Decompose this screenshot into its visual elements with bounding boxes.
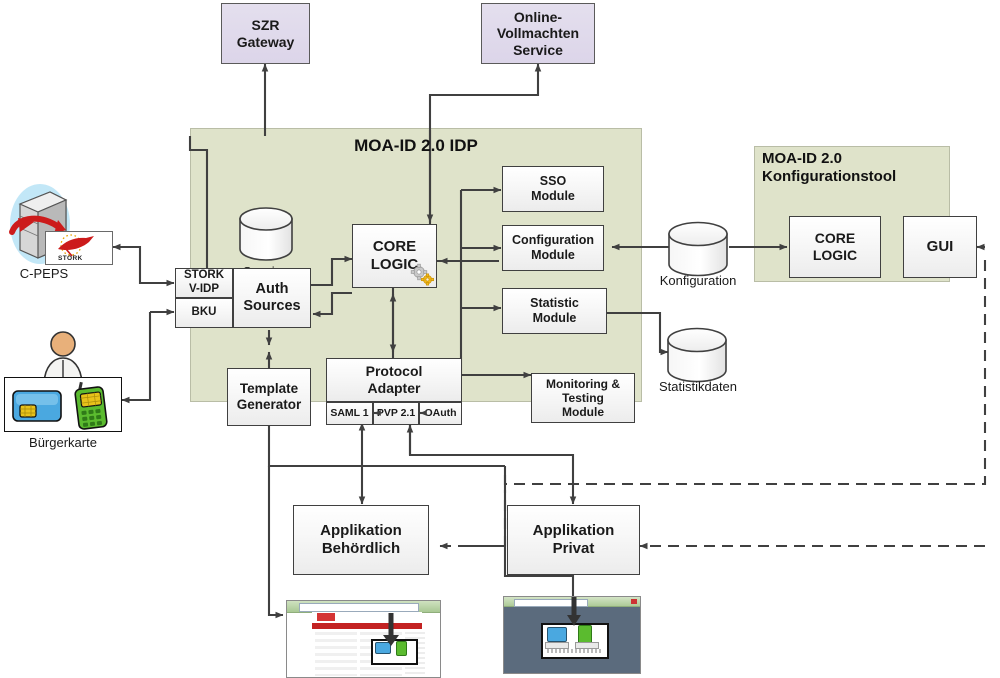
template-generator-box[interactable]: Template Generator <box>227 368 311 426</box>
private-portal-screenshot[interactable] <box>503 596 641 674</box>
konfiguration-db <box>669 223 727 276</box>
configuration-module-line1: Configuration <box>512 233 594 247</box>
private-widget-card-button[interactable] <box>545 642 569 649</box>
screenshot-pointer-arrow <box>379 613 409 647</box>
private-widget-checkbox-row[interactable] <box>547 649 601 653</box>
cpeps-label: C-PEPS <box>6 266 82 281</box>
connector-layer <box>0 0 1000 678</box>
szr-gateway-line1: SZR <box>252 17 280 33</box>
protocol-adapter-box[interactable]: Protocol Adapter <box>326 358 462 402</box>
monitoring-testing-module-box[interactable]: Monitoring & Testing Module <box>531 373 635 423</box>
bku-label: BKU <box>176 306 232 320</box>
monitoring-module-line1: Monitoring & <box>546 377 620 391</box>
citizen-card-icon <box>11 385 65 427</box>
moa-id-idp-title: MOA-ID 2.0 IDP <box>190 136 642 156</box>
core-logic-line1: CORE <box>373 238 416 255</box>
protocol-saml1-box[interactable]: SAML 1 <box>326 402 373 425</box>
protocol-saml1-label: SAML 1 <box>327 407 372 419</box>
konfiguration-db-label: Konfiguration <box>640 273 756 288</box>
stork-vidp-line2: V-IDP <box>189 283 219 295</box>
browser-close-button-private[interactable] <box>631 599 637 604</box>
core-logic-box[interactable]: CORE LOGIC <box>352 224 437 288</box>
auth-sources-box[interactable]: Auth Sources <box>233 268 311 328</box>
private-widget-mobile-button[interactable] <box>575 642 599 649</box>
gui-label: GUI <box>904 238 976 256</box>
sso-module-box[interactable]: SSO Module <box>502 166 604 212</box>
monitoring-module-line3: Module <box>562 405 604 419</box>
applikation-behoerdlich-box[interactable]: Applikation Behördlich <box>293 505 429 575</box>
auth-sources-line1: Auth <box>255 281 288 297</box>
protocol-oauth-box[interactable]: OAuth <box>419 402 462 425</box>
browser-url-field[interactable] <box>299 603 419 612</box>
auth-sources-line2: Sources <box>243 298 300 314</box>
template-generator-line2: Generator <box>237 397 302 412</box>
privat-line2: Privat <box>553 540 595 557</box>
konfigurationstool-title-line1: MOA-ID 2.0 <box>762 150 842 167</box>
konfigtool-core-logic-box[interactable]: CORE LOGIC <box>789 216 881 278</box>
monitoring-module-line2: Testing <box>562 391 604 405</box>
vollmachten-line2: Vollmachten <box>497 25 579 41</box>
applikation-privat-box[interactable]: Applikation Privat <box>507 505 640 575</box>
statistikdaten-db <box>668 329 726 382</box>
configuration-module-box[interactable]: Configuration Module <box>502 225 604 271</box>
stork-vidp-line1: STORK <box>184 269 224 281</box>
vollmachten-line1: Online- <box>514 9 562 25</box>
bku-box[interactable]: BKU <box>175 298 233 328</box>
private-widget-card-icon <box>547 627 567 642</box>
online-vollmachten-service-box[interactable]: Online- Vollmachten Service <box>481 3 595 64</box>
protocol-oauth-label: OAuth <box>420 407 461 419</box>
konfigtool-gui-box[interactable]: GUI <box>903 216 977 278</box>
sso-module-line2: Module <box>531 189 575 203</box>
sso-module-line1: SSO <box>540 174 566 188</box>
cpeps-badge-label: STORK <box>56 255 126 263</box>
konfigurationstool-title-line2: Konfigurationstool <box>762 168 896 185</box>
stork-vidp-box[interactable]: STORK V-IDP <box>175 268 233 298</box>
cpeps-stork-badge[interactable]: STORK <box>45 231 113 265</box>
buergerkarte-box[interactable] <box>4 377 122 432</box>
diagram-canvas: MOA-ID 2.0 IDP MOA-ID 2.0 Konfigurations… <box>0 0 1000 678</box>
gear-icon <box>409 262 435 286</box>
session-information-db <box>240 208 292 260</box>
site-content-column-left <box>315 632 357 676</box>
statistikdaten-db-label: Statistikdaten <box>638 379 758 394</box>
szr-gateway-line2: Gateway <box>237 34 295 50</box>
behoerdlich-line1: Applikation <box>320 522 402 539</box>
privat-line1: Applikation <box>533 522 615 539</box>
konfigtool-core-logic-line2: LOGIC <box>813 247 857 263</box>
statistic-module-line1: Statistic <box>530 296 579 310</box>
template-generator-line1: Template <box>240 381 298 396</box>
vollmachten-line3: Service <box>513 42 563 58</box>
konfigtool-core-logic-line1: CORE <box>815 230 855 246</box>
private-screenshot-pointer-arrow <box>564 597 588 627</box>
statistic-module-box[interactable]: Statistic Module <box>502 288 607 334</box>
buergerkarte-label: Bürgerkarte <box>4 435 122 450</box>
mobile-phone-icon <box>71 380 113 430</box>
public-portal-screenshot[interactable] <box>286 600 441 678</box>
konfigurationstool-title: MOA-ID 2.0 Konfigurationstool <box>762 150 948 186</box>
statistic-module-line2: Module <box>533 311 577 325</box>
protocol-adapter-line1: Protocol <box>366 363 423 379</box>
szr-gateway-box[interactable]: SZR Gateway <box>221 3 310 64</box>
behoerdlich-line2: Behördlich <box>322 540 400 557</box>
site-logo <box>317 613 335 621</box>
protocol-pvp21-box[interactable]: PVP 2.1 <box>373 402 419 425</box>
protocol-adapter-line2: Adapter <box>368 380 421 396</box>
protocol-pvp21-label: PVP 2.1 <box>374 407 418 419</box>
configuration-module-line2: Module <box>531 248 575 262</box>
